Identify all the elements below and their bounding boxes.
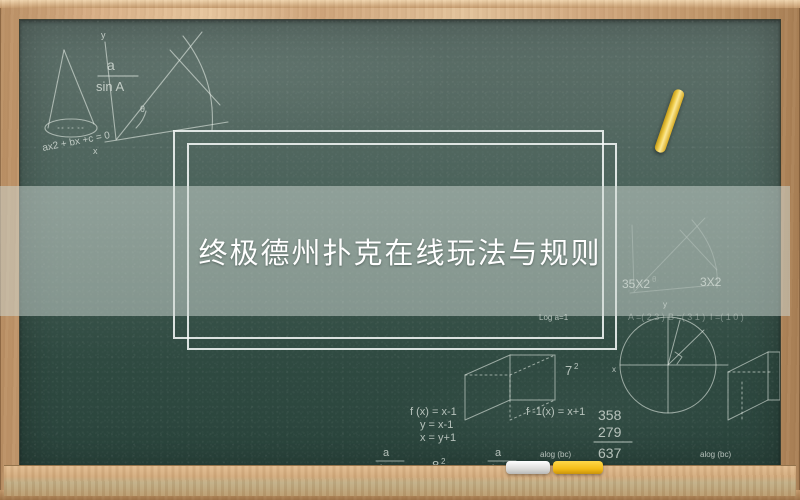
chalk-addition-problem: 358 279 637 bbox=[594, 407, 632, 461]
chalk-ledge bbox=[4, 465, 796, 496]
chalk-quadratic-equation: ax2 + bx +c = 0 bbox=[41, 130, 111, 154]
chalk-square-seven: 7 bbox=[565, 363, 572, 378]
chalk-law-of-sines-a-3: a bbox=[495, 447, 502, 459]
chalk-addend-2: 279 bbox=[598, 424, 622, 440]
cube-diagram-center bbox=[465, 355, 555, 420]
chalk-square-seven-exp: 2 bbox=[574, 362, 579, 371]
circle-angle-diagram: y x bbox=[612, 300, 728, 413]
cone-diagram bbox=[45, 50, 97, 137]
chalk-log-note-2: alog (bc) bbox=[700, 450, 731, 459]
chalk-sum: 637 bbox=[598, 445, 622, 461]
blackboard-banner: a sin A ax2 + bx +c = 0 y x θ f (x) = x-… bbox=[0, 0, 800, 500]
cube-diagram-right bbox=[728, 352, 780, 420]
chalk-law-of-sines-a: a bbox=[107, 57, 115, 73]
svg-text:x: x bbox=[612, 365, 616, 374]
white-chalk-piece[interactable] bbox=[506, 461, 550, 474]
chalk-function-1: f (x) = x-1 bbox=[410, 406, 457, 418]
chalk-inverse-function: f -1(x) = x+1 bbox=[526, 406, 585, 418]
chalk-law-of-sines-sinA: sin A bbox=[96, 79, 125, 94]
chalk-axis-y-label: y bbox=[101, 30, 106, 40]
chalk-axis-x-label: x bbox=[93, 146, 98, 156]
yellow-chalk-piece[interactable] bbox=[553, 461, 603, 474]
chalk-law-of-sines-a-2: a bbox=[383, 447, 390, 459]
frame-bevel-top bbox=[0, 0, 800, 8]
chalk-addend-1: 358 bbox=[598, 407, 622, 423]
chalk-log-note-3: alog (bc) bbox=[540, 450, 571, 459]
yellow-chalk-stick[interactable] bbox=[654, 88, 686, 154]
chalk-function-3: x = y+1 bbox=[420, 432, 456, 444]
page-title: 终极德州扑克在线玩法与规则 bbox=[0, 186, 800, 316]
chalk-theta-label-left: θ bbox=[140, 104, 145, 114]
chalk-function-2: y = x-1 bbox=[420, 419, 453, 431]
